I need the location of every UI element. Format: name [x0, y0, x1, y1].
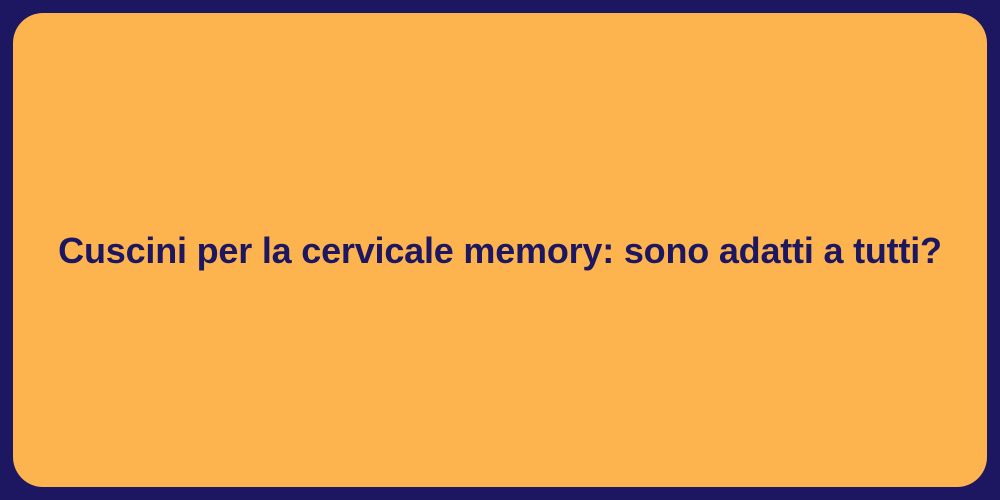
- banner-frame: Cuscini per la cervicale memory: sono ad…: [0, 0, 1000, 500]
- banner-panel: Cuscini per la cervicale memory: sono ad…: [13, 13, 987, 487]
- page-title: Cuscini per la cervicale memory: sono ad…: [58, 228, 942, 273]
